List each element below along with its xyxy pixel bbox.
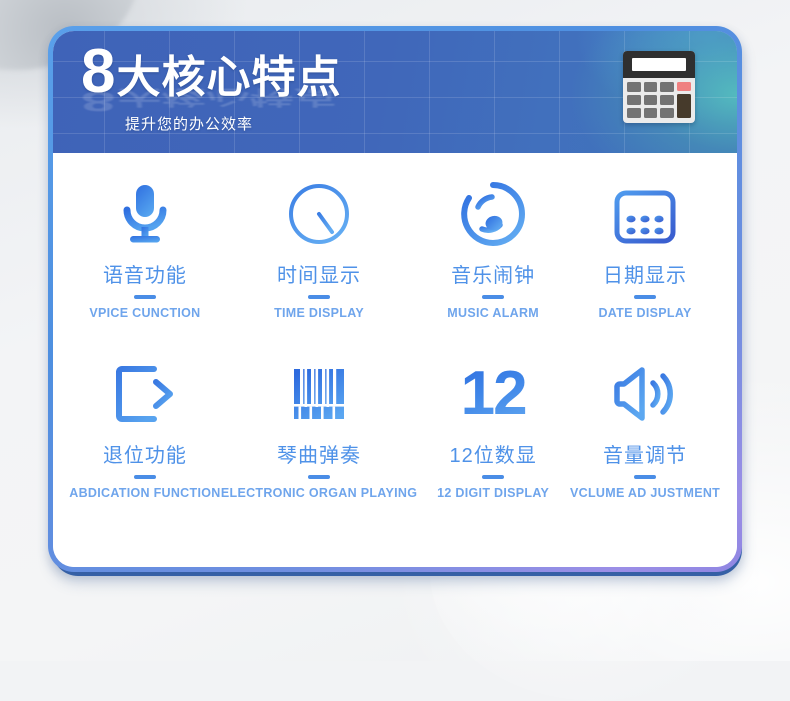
feature-divider <box>134 475 156 479</box>
feature-title: 时间显示 <box>277 259 361 288</box>
feature-title: 日期显示 <box>603 259 687 288</box>
calendar-icon <box>608 175 682 253</box>
feature-divider <box>308 295 330 299</box>
feature-caption: TIME DISPLAY <box>274 306 364 320</box>
feature-card: 8 大核心特点 8 大核心特点 提升您的办公效率 <box>48 26 742 572</box>
calculator-number-keys <box>627 82 674 118</box>
feature-divider <box>482 295 504 299</box>
calculator-function-keys <box>677 82 691 118</box>
headline-number: 8 <box>81 41 114 103</box>
feature-divider <box>634 475 656 479</box>
calculator-key <box>627 108 641 118</box>
card-header: 8 大核心特点 8 大核心特点 提升您的办公效率 <box>53 31 737 153</box>
header-text-block: 8 大核心特点 8 大核心特点 提升您的办公效率 <box>81 39 341 134</box>
calculator-display <box>632 58 686 71</box>
feature-divider <box>308 475 330 479</box>
feature-caption: ABDICATION FUNCTION <box>69 486 220 500</box>
calculator-key <box>660 95 674 105</box>
calculator-key <box>660 82 674 92</box>
speaker-volume-icon <box>608 355 682 433</box>
calculator-clear-key <box>677 82 691 91</box>
feature-item-abdication[interactable]: 退位功能 ABDICATION FUNCTION <box>69 347 221 527</box>
feature-item-digit-display[interactable]: 12 12位数显 12 DIGIT DISPLAY <box>417 347 569 527</box>
calculator-key <box>627 82 641 92</box>
microphone-icon <box>108 175 182 253</box>
calculator-key <box>644 95 658 105</box>
feature-caption: VPICE CUNCTION <box>89 306 200 320</box>
feature-item-volume[interactable]: 音量调节 VCLUME AD JUSTMENT <box>569 347 721 527</box>
feature-grid: 语音功能 VPICE CUNCTION <box>53 153 737 567</box>
feature-caption: DATE DISPLAY <box>598 306 691 320</box>
number-12-icon: 12 <box>461 355 526 433</box>
piano-keys-icon <box>282 355 356 433</box>
feature-caption: 12 DIGIT DISPLAY <box>437 486 549 500</box>
headline-text: 大核心特点 <box>116 56 341 100</box>
feature-caption: ELECTRONIC ORGAN PLAYING <box>221 486 417 500</box>
feature-title: 音乐闹钟 <box>451 259 535 288</box>
feature-title: 12位数显 <box>450 439 537 468</box>
clock-icon <box>282 175 356 253</box>
calculator-key <box>627 95 641 105</box>
music-note-icon <box>456 175 530 253</box>
page-subtitle: 提升您的办公效率 <box>125 113 341 134</box>
feature-card-inner: 8 大核心特点 8 大核心特点 提升您的办公效率 <box>53 31 737 567</box>
calculator-equals-key <box>677 94 691 118</box>
feature-title: 语音功能 <box>103 259 187 288</box>
feature-item-voice[interactable]: 语音功能 VPICE CUNCTION <box>69 167 221 347</box>
calculator-key <box>660 108 674 118</box>
feature-title: 音量调节 <box>603 439 687 468</box>
feature-divider <box>134 295 156 299</box>
calculator-icon <box>623 51 695 123</box>
calculator-key <box>644 108 658 118</box>
feature-item-date[interactable]: 日期显示 DATE DISPLAY <box>569 167 721 347</box>
feature-item-music-alarm[interactable]: 音乐闹钟 MUSIC ALARM <box>417 167 569 347</box>
calculator-keypad <box>623 78 695 123</box>
feature-caption: MUSIC ALARM <box>447 306 539 320</box>
feature-title: 琴曲弹奏 <box>277 439 361 468</box>
number-12-glyph: 12 <box>461 363 526 425</box>
feature-item-organ[interactable]: 琴曲弹奏 ELECTRONIC ORGAN PLAYING <box>221 347 417 527</box>
page-background: 8 大核心特点 8 大核心特点 提升您的办公效率 <box>0 0 790 661</box>
exit-arrow-icon <box>108 355 182 433</box>
feature-divider <box>482 475 504 479</box>
calculator-key <box>644 82 658 92</box>
feature-title: 退位功能 <box>103 439 187 468</box>
feature-item-time[interactable]: 时间显示 TIME DISPLAY <box>221 167 417 347</box>
page-title: 8 大核心特点 <box>81 39 341 101</box>
feature-divider <box>634 295 656 299</box>
calculator-screen-area <box>623 51 695 78</box>
feature-caption: VCLUME AD JUSTMENT <box>570 486 720 500</box>
